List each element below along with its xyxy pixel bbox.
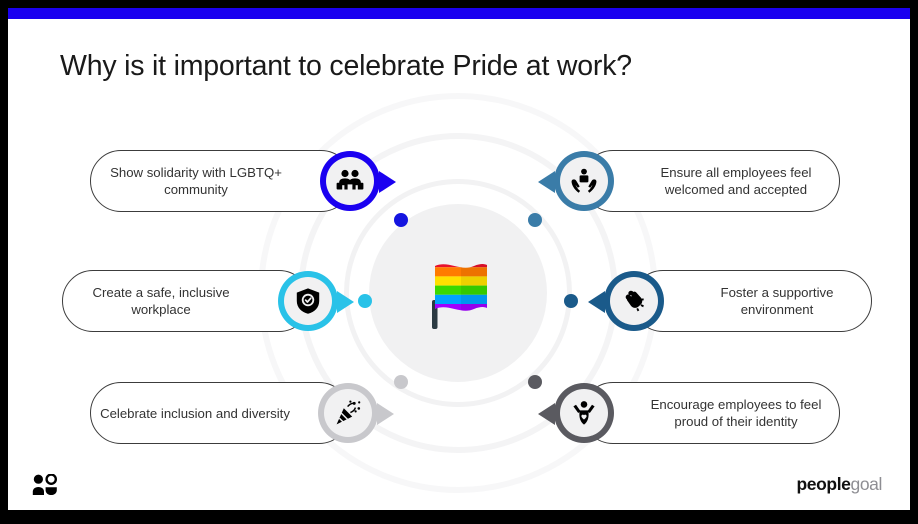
connector-dot-proud-identity <box>528 375 542 389</box>
connector-dot-safe-workplace <box>358 294 372 308</box>
callout-welcomed[interactable]: Ensure all employees feel welcomed and a… <box>554 150 840 212</box>
callout-pointer-tail <box>538 171 555 193</box>
callout-pointer-tail <box>538 403 555 425</box>
group-of-people-icon <box>326 157 374 205</box>
slide-canvas: Why is it important to celebrate Pride a… <box>8 8 910 510</box>
callout-pointer-tail <box>377 403 394 425</box>
wordmark-people: people <box>797 474 851 494</box>
callout-text: Celebrate inclusion and diversity <box>91 405 349 422</box>
callout-inclusion[interactable]: Celebrate inclusion and diversity <box>90 382 378 444</box>
connector-dot-inclusion <box>394 375 408 389</box>
person-raising-arms-icon <box>560 389 608 437</box>
callout-safe-workplace[interactable]: Create a safe, inclusive workplace <box>62 270 338 332</box>
callout-pill: Show solidarity with LGBTQ+ community <box>90 150 352 212</box>
callout-supportive[interactable]: Foster a supportive environment <box>604 270 872 332</box>
callout-pill: Celebrate inclusion and diversity <box>90 382 350 444</box>
callout-pill: Ensure all employees feel welcomed and a… <box>582 150 840 212</box>
callout-text: Show solidarity with LGBTQ+ community <box>91 164 351 198</box>
hands-holding-person-icon <box>560 157 608 205</box>
party-popper-icon <box>324 389 372 437</box>
clapping-hands-icon <box>610 277 658 325</box>
callout-text: Foster a supportive environment <box>633 284 871 318</box>
callout-pill: Create a safe, inclusive workplace <box>62 270 310 332</box>
callout-text: Create a safe, inclusive workplace <box>63 284 309 318</box>
callout-text: Ensure all employees feel welcomed and a… <box>583 164 839 198</box>
callout-pointer-tail <box>337 291 354 313</box>
callout-pill: Foster a supportive environment <box>632 270 872 332</box>
callout-pointer-tail <box>588 291 605 313</box>
shield-check-icon <box>284 277 332 325</box>
connector-dot-solidarity <box>394 213 408 227</box>
top-accent-bar <box>8 8 910 19</box>
wordmark-goal: goal <box>851 474 883 494</box>
page-title: Why is it important to celebrate Pride a… <box>60 50 860 83</box>
connector-dot-welcomed <box>528 213 542 227</box>
peoplegoal-wordmark: peoplegoal <box>797 474 883 495</box>
two-people-logo-icon <box>32 474 58 501</box>
rainbow-flag-icon <box>415 250 501 336</box>
callout-solidarity[interactable]: Show solidarity with LGBTQ+ community <box>90 150 380 212</box>
callout-proud-identity[interactable]: Encourage employees to feel proud of the… <box>554 382 840 444</box>
callout-pill: Encourage employees to feel proud of the… <box>582 382 840 444</box>
connector-dot-supportive <box>564 294 578 308</box>
callout-pointer-tail <box>379 171 396 193</box>
callout-text: Encourage employees to feel proud of the… <box>583 396 839 430</box>
